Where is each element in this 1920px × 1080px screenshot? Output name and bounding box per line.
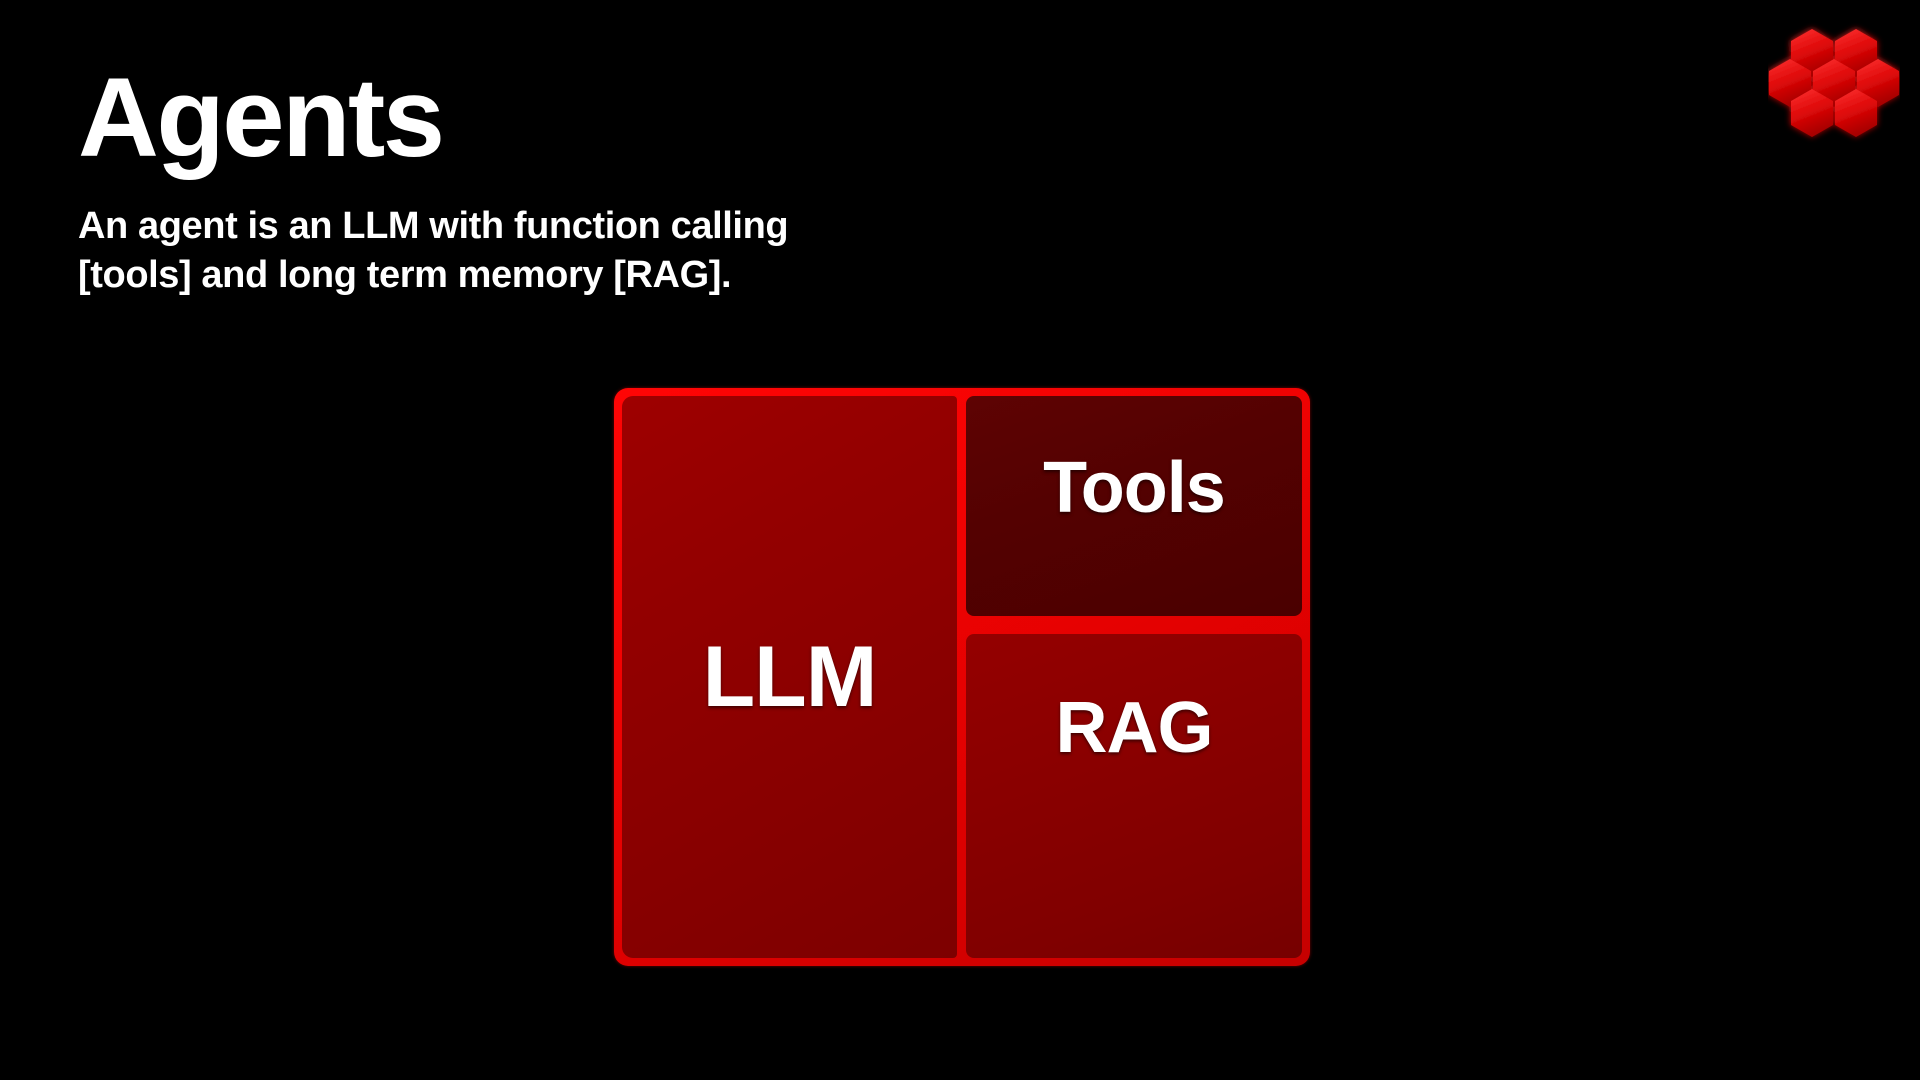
panel-tools[interactable]: Tools bbox=[966, 396, 1302, 616]
page-title: Agents bbox=[78, 62, 1178, 174]
hexagon-cluster-logo bbox=[1768, 18, 1900, 144]
panel-rag[interactable]: RAG bbox=[966, 634, 1302, 958]
slide-text-block: Agents An agent is an LLM with function … bbox=[78, 62, 1178, 299]
slide-canvas: Agents An agent is an LLM with function … bbox=[0, 0, 1920, 1080]
slide-subtitle: An agent is an LLM with function calling… bbox=[78, 202, 1178, 299]
panel-tools-label: Tools bbox=[1043, 452, 1225, 524]
panel-rag-label: RAG bbox=[1056, 692, 1213, 764]
hexagon-cluster-icon bbox=[1768, 18, 1900, 144]
panel-llm-label: LLM bbox=[703, 634, 877, 720]
agent-architecture-diagram: LLM Tools RAG bbox=[614, 388, 1310, 966]
diagram-right-column: Tools RAG bbox=[966, 396, 1302, 958]
panel-llm[interactable]: LLM bbox=[622, 396, 957, 958]
